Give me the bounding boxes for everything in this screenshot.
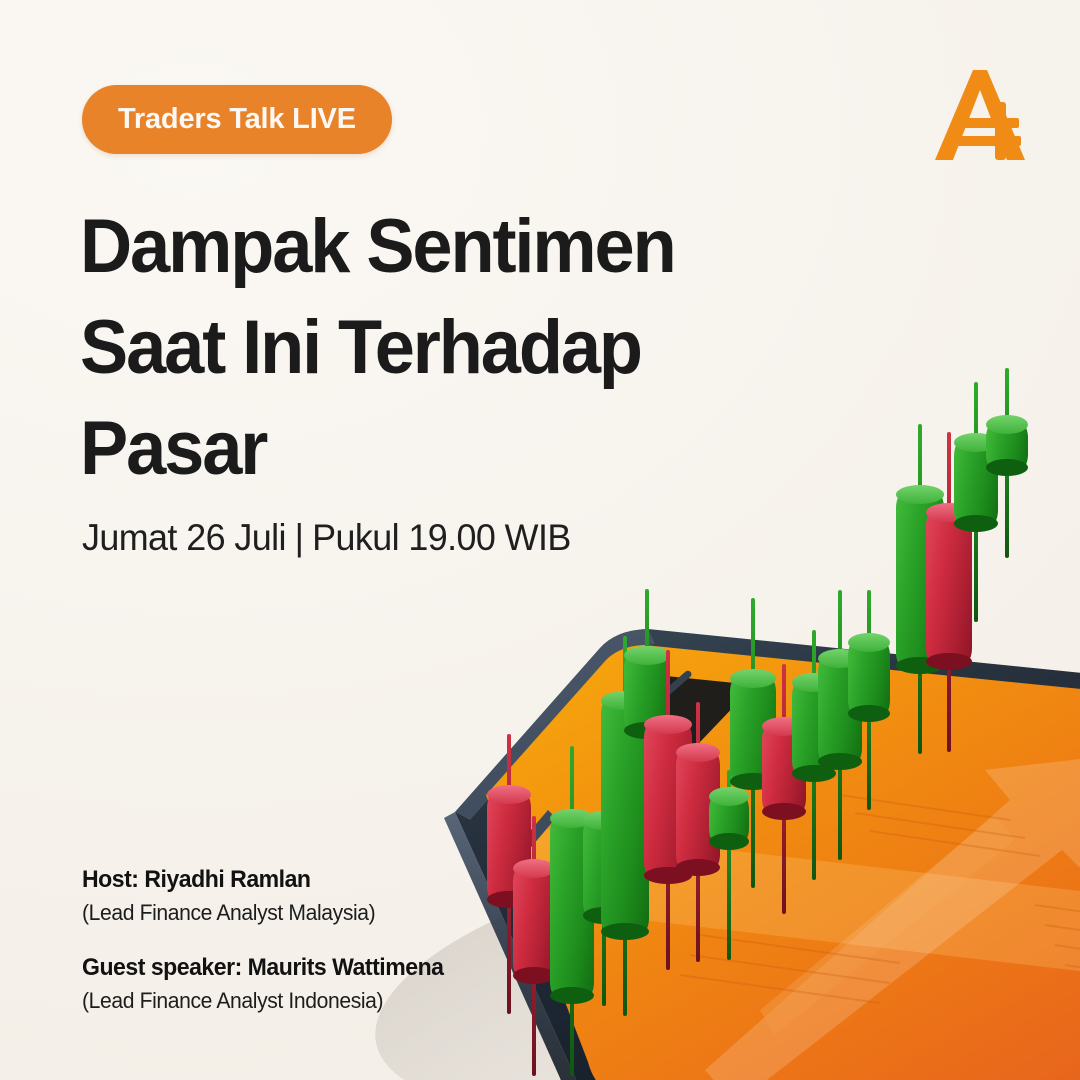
candle-body bbox=[848, 642, 890, 714]
candle-body bbox=[513, 868, 555, 976]
candle-cap bbox=[624, 646, 670, 665]
host-credit: Host: Riyadhi Ramlan (Lead Finance Analy… bbox=[82, 866, 459, 926]
candle-body bbox=[709, 796, 749, 842]
candle-foot bbox=[818, 753, 862, 770]
candle-foot bbox=[986, 459, 1028, 476]
poster-canvas: Traders Talk LIVE Dampak Sentimen Saat I… bbox=[0, 0, 1080, 1080]
candle-bullish-14 bbox=[848, 632, 890, 732]
candle-foot bbox=[926, 653, 972, 670]
candle-cap bbox=[644, 715, 692, 734]
candle-foot bbox=[954, 515, 998, 532]
candle-bullish-9 bbox=[709, 788, 749, 858]
candle-foot bbox=[550, 987, 594, 1004]
guest-name: Guest speaker: Maurits Wattimena bbox=[82, 954, 444, 982]
host-role: (Lead Finance Analyst Malaysia) bbox=[82, 900, 444, 926]
host-name: Host: Riyadhi Ramlan bbox=[82, 866, 444, 894]
candle-cap bbox=[513, 859, 555, 878]
speaker-credits: Host: Riyadhi Ramlan (Lead Finance Analy… bbox=[82, 866, 459, 1014]
candle-foot bbox=[601, 923, 649, 940]
candle-cap bbox=[730, 669, 776, 688]
candle-foot bbox=[676, 859, 720, 876]
candle-cap bbox=[848, 633, 890, 652]
candle-foot bbox=[848, 705, 890, 722]
candle-bullish-18 bbox=[986, 416, 1028, 476]
candle-body bbox=[986, 424, 1028, 468]
candle-foot bbox=[709, 833, 749, 850]
candle-foot bbox=[762, 803, 806, 820]
candle-cap bbox=[487, 785, 531, 804]
candle-cap bbox=[986, 415, 1028, 434]
guest-credit: Guest speaker: Maurits Wattimena (Lead F… bbox=[82, 954, 459, 1014]
candle-cap bbox=[676, 743, 720, 762]
candle-bearish-2 bbox=[513, 856, 555, 1026]
guest-role: (Lead Finance Analyst Indonesia) bbox=[82, 988, 444, 1014]
candle-foot bbox=[513, 967, 555, 984]
